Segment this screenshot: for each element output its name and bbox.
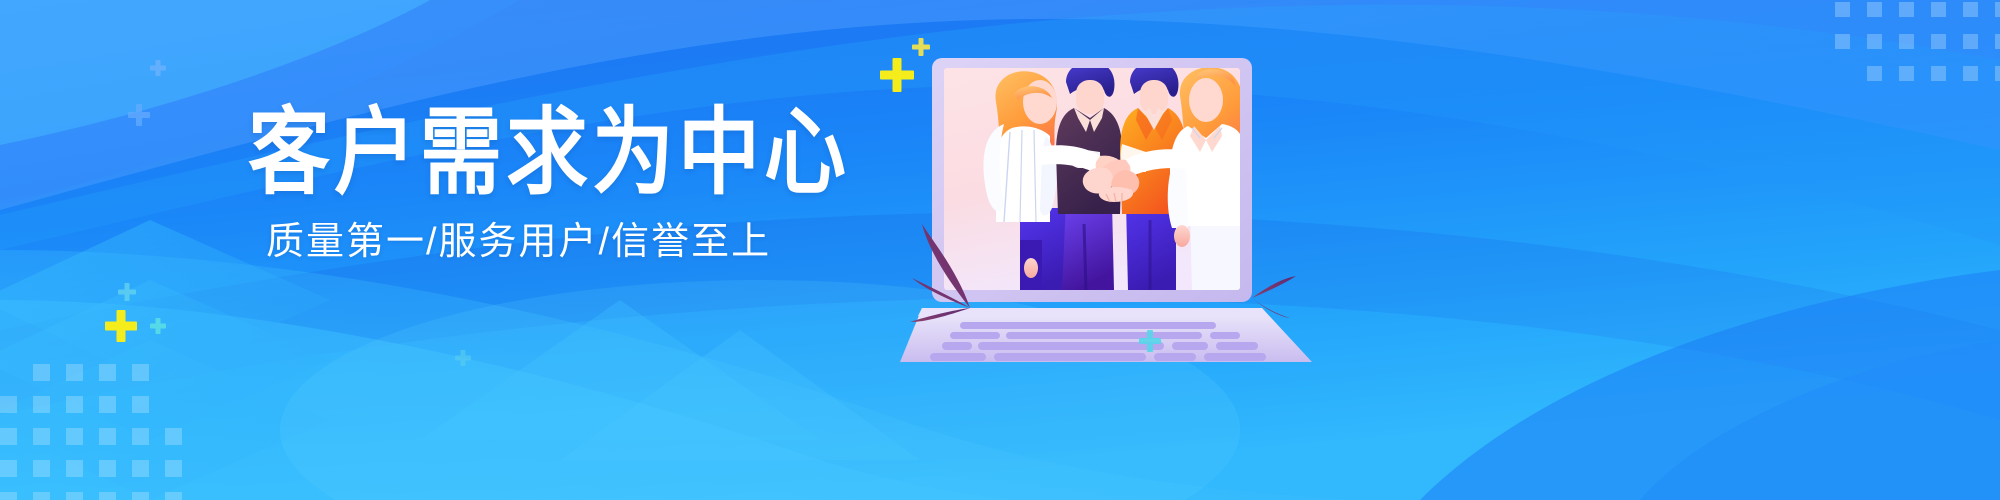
plus-light-topleft2-icon [128, 104, 150, 126]
plus-yellow-large-icon [880, 58, 914, 92]
laptop-keyboard [900, 308, 1312, 362]
promo-banner: 客户需求为中心 质量第一/服务用户/信誉至上 [0, 0, 2000, 500]
headline-block: 客户需求为中心 质量第一/服务用户/信誉至上 [248, 104, 888, 189]
plus-cyan-bottom-icon [150, 318, 166, 334]
team-on-laptop-illustration [900, 40, 1320, 370]
plus-cyan-lower-icon [455, 350, 471, 366]
plus-cyan-right-icon [1139, 330, 1161, 352]
page-subtitle: 质量第一/服务用户/信誉至上 [266, 210, 771, 265]
dot-grid-bottom-left [0, 364, 182, 500]
page-title: 客户需求为中心 [248, 104, 888, 203]
plus-yellow-bottom-icon [105, 310, 137, 342]
plus-cyan-mid-icon [118, 283, 136, 301]
plus-light-topleft-icon [150, 60, 166, 76]
plus-yellow-small-icon [912, 38, 930, 56]
dot-grid-top-right [1835, 2, 2000, 81]
